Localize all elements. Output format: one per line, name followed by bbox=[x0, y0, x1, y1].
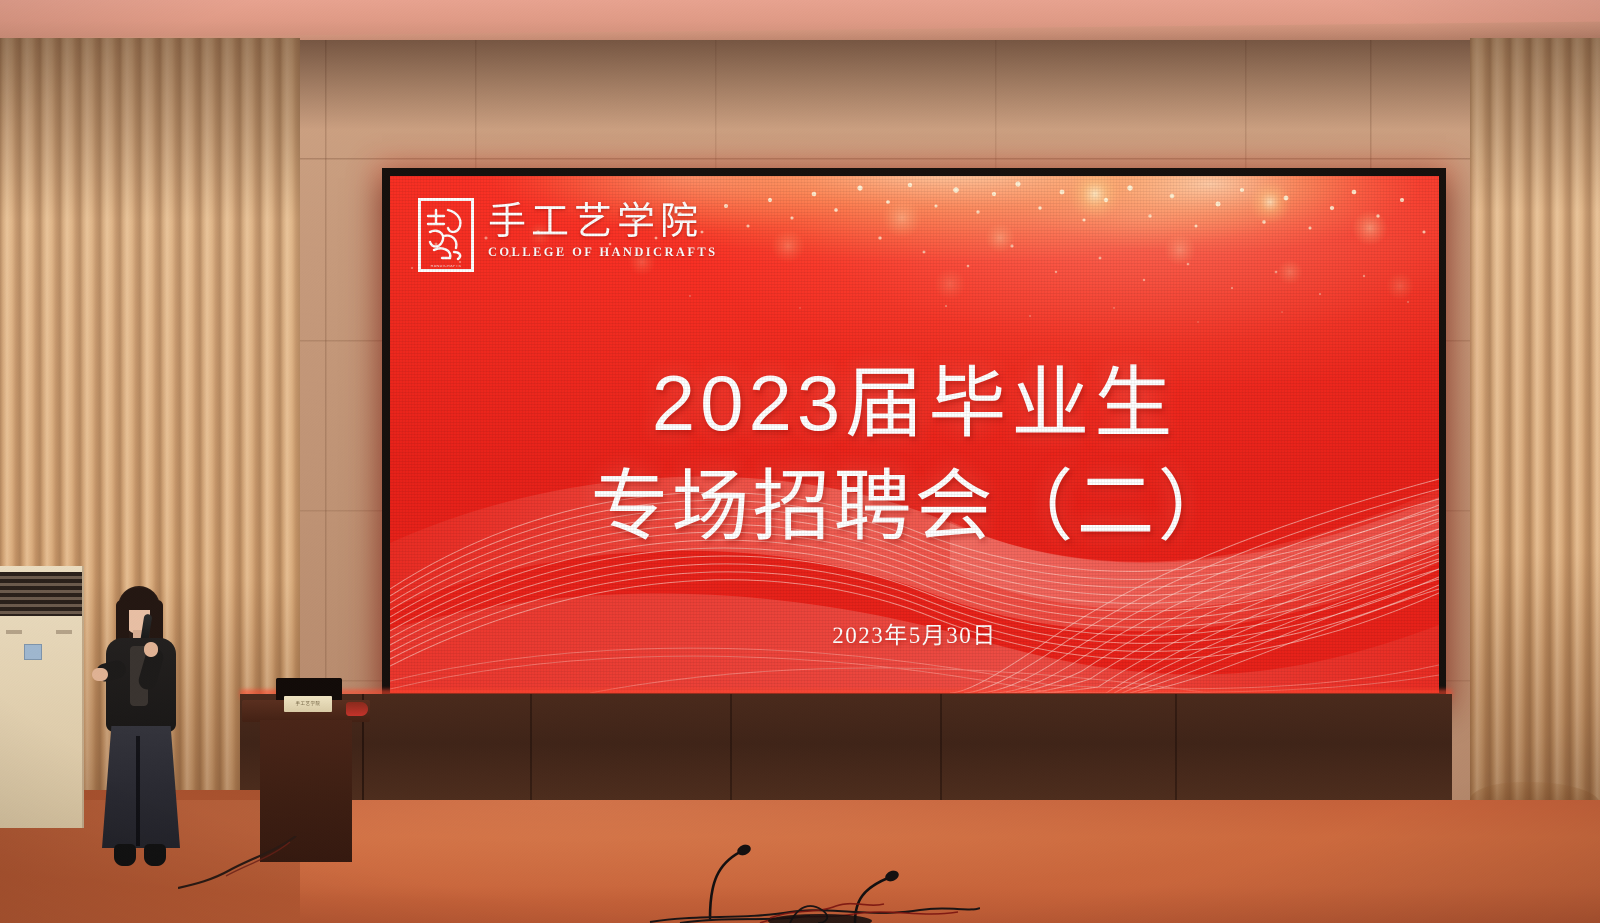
presenter-hand-right bbox=[144, 642, 158, 657]
presenter-shoe-left bbox=[114, 844, 136, 866]
presenter-figure bbox=[92, 586, 188, 884]
college-brand-lockup: HANDICRAFTS 手工艺学院 COLLEGE OF HANDICRAFTS bbox=[418, 198, 717, 272]
ac-label-right bbox=[56, 630, 72, 634]
presenter-shoe-right bbox=[144, 844, 166, 866]
ac-label-left bbox=[6, 630, 22, 634]
led-screen-bezel: HANDICRAFTS 手工艺学院 COLLEGE OF HANDICRAFTS… bbox=[382, 168, 1446, 700]
ac-vent-grille-icon bbox=[0, 572, 82, 616]
podium-cup bbox=[346, 702, 368, 716]
curtain-right-shading bbox=[1470, 38, 1600, 828]
presenter-hand-left bbox=[92, 668, 108, 681]
presenter-skirt bbox=[102, 726, 180, 848]
floor-cable bbox=[178, 836, 298, 896]
event-date: 2023年5月30日 bbox=[390, 616, 1439, 650]
auditorium-scene: HANDICRAFTS 手工艺学院 COLLEGE OF HANDICRAFTS… bbox=[0, 0, 1600, 923]
handicrafts-seal-logo-icon: HANDICRAFTS bbox=[418, 198, 474, 272]
led-screen: HANDICRAFTS 手工艺学院 COLLEGE OF HANDICRAFTS… bbox=[390, 176, 1439, 693]
ac-brand-badge bbox=[24, 644, 42, 660]
air-conditioner-unit bbox=[0, 566, 84, 828]
podium-nameplate-text: 手工艺学院 bbox=[296, 701, 321, 707]
headline-line-2: 专场招聘会（二） bbox=[390, 455, 1439, 558]
wall-top-shadow bbox=[235, 40, 1600, 130]
college-name-en: COLLEGE OF HANDICRAFTS bbox=[488, 245, 717, 260]
event-headline: 2023届毕业生 专场招聘会（二） bbox=[390, 352, 1439, 558]
podium-nameplate: 手工艺学院 bbox=[284, 696, 332, 712]
presenter-skirt-split bbox=[136, 736, 140, 846]
gooseneck-microphones bbox=[640, 822, 980, 923]
headline-line-1: 2023届毕业生 bbox=[390, 352, 1439, 455]
curtain-right bbox=[1470, 38, 1600, 828]
college-name-cn: 手工艺学院 bbox=[488, 202, 717, 242]
logo-mark-caption: HANDICRAFTS bbox=[424, 265, 468, 268]
